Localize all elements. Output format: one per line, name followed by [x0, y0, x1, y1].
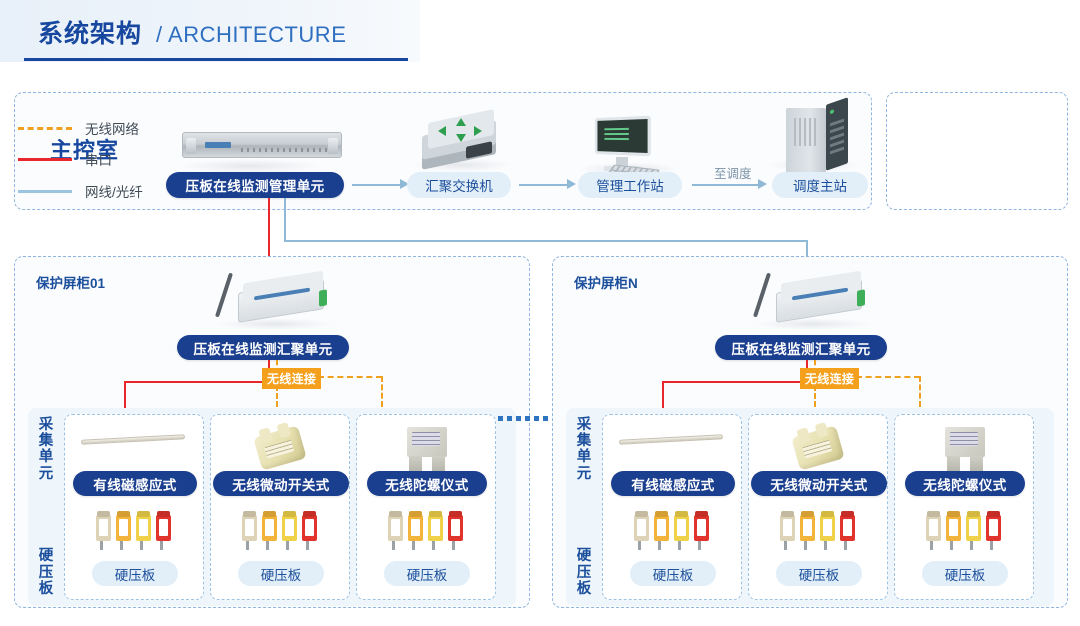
cab-left-wireless-across: [318, 376, 382, 378]
sensor-card-left-1[interactable]: 有线磁感应式 硬压板: [64, 414, 204, 600]
hard-plate-icon-right-3: [926, 513, 1004, 551]
wireless-line-icon: [18, 127, 72, 130]
legend-panel: [886, 92, 1068, 210]
hard-plate-icon-right-2: [780, 513, 858, 551]
node-mgmt-unit[interactable]: 压板在线监测管理单元: [166, 172, 344, 198]
cab-left-serial-across: [124, 381, 270, 383]
link-mgmt-drop-blue: [284, 198, 286, 240]
plate-label-right-3: 硬压板: [922, 561, 1008, 586]
link-switch-to-workstation: [519, 184, 569, 186]
gateway-icon-left: [238, 286, 324, 316]
hard-plate-icon-left-2: [242, 513, 320, 551]
gyroscope-icon: [945, 427, 985, 457]
plate-label-right-1: 硬压板: [630, 561, 716, 586]
legend-label-wireless: 无线网络: [85, 118, 139, 138]
sensor-label-right-3[interactable]: 无线陀螺仪式: [905, 471, 1025, 496]
gateway-shadow-right: [754, 318, 872, 330]
legend-item-wireless: 无线网络: [18, 118, 139, 138]
legend-item-ethernet: 网线/光纤: [18, 181, 143, 201]
node-dispatch[interactable]: 调度主站: [772, 172, 868, 198]
link-mgmt-to-switch: [352, 184, 402, 186]
cab-left-wireless-to-sensor3: [381, 376, 383, 407]
cab-left-wireless-to-sensor2: [276, 385, 278, 407]
header-underline: [24, 58, 408, 61]
page-header: 系统架构 / ARCHITECTURE: [38, 14, 346, 50]
wireless-tag-left: 无线连接: [262, 368, 321, 389]
collect-zone-left: 采集单元 硬压板 有线磁感应式 硬压板 无线微动开关式 硬压板: [28, 408, 516, 606]
gateway-icon-right: [776, 286, 862, 316]
switch-icon: [422, 128, 496, 162]
hard-plate-icon-left-1: [96, 513, 174, 551]
collect-zone-right: 采集单元 硬压板 有线磁感应式 硬压板 无线微动开关式 硬压板: [566, 408, 1054, 606]
zone-label-board-right: 硬压板: [574, 548, 594, 597]
legend-label-serial: 串口: [85, 149, 112, 169]
arrow-switch-to-workstation-icon: [567, 179, 576, 189]
link-mgmt-across-blue: [284, 240, 806, 242]
zone-label-board-left: 硬压板: [36, 548, 56, 597]
link-workstation-to-dispatch: [692, 184, 760, 186]
sensor-label-left-1[interactable]: 有线磁感应式: [73, 471, 197, 496]
arrow-workstation-to-dispatch-icon: [758, 179, 767, 189]
magnetic-strip-icon: [81, 434, 185, 444]
cab-right-wireless-to-sensor3: [919, 376, 921, 407]
page-title: 系统架构: [38, 14, 142, 50]
sensor-label-left-3[interactable]: 无线陀螺仪式: [367, 471, 487, 496]
plate-label-right-2: 硬压板: [776, 561, 862, 586]
cabinet-title-right: 保护屏柜N: [574, 272, 638, 292]
micro-switch-icon: [795, 431, 841, 465]
hard-plate-icon-left-3: [388, 513, 466, 551]
hard-plate-icon-right-1: [634, 513, 712, 551]
gyroscope-icon: [407, 427, 447, 457]
cabinet-title-left: 保护屏柜01: [36, 272, 105, 292]
node-workstation[interactable]: 管理工作站: [578, 172, 682, 198]
plate-label-left-2: 硬压板: [238, 561, 324, 586]
zone-label-collect-right: 采集单元: [574, 417, 594, 482]
sensor-card-left-3[interactable]: 无线陀螺仪式 硬压板: [356, 414, 496, 600]
node-switch[interactable]: 汇聚交换机: [407, 172, 511, 198]
rack-shadow: [178, 159, 322, 173]
cab-right-serial-across: [662, 381, 808, 383]
plate-label-left-3: 硬压板: [384, 561, 470, 586]
server-tower-icon: [786, 108, 826, 174]
rack-leds: [241, 148, 333, 152]
sensor-label-left-2[interactable]: 无线微动开关式: [213, 471, 349, 496]
micro-switch-icon: [257, 431, 303, 465]
gateway-shadow-left: [216, 318, 334, 330]
sensor-card-right-2[interactable]: 无线微动开关式 硬压板: [748, 414, 888, 600]
sensor-card-right-3[interactable]: 无线陀螺仪式 硬压板: [894, 414, 1034, 600]
plate-label-left-1: 硬压板: [92, 561, 178, 586]
wireless-tag-right: 无线连接: [800, 368, 859, 389]
magnetic-strip-icon: [619, 434, 723, 444]
ethernet-line-icon: [18, 190, 72, 193]
sensor-card-left-2[interactable]: 无线微动开关式 硬压板: [210, 414, 350, 600]
cab-right-wireless-to-sensor2: [814, 385, 816, 407]
rack-server-icon: [182, 132, 342, 158]
ellipsis-dots: [498, 416, 548, 421]
sensor-label-right-1[interactable]: 有线磁感应式: [611, 471, 735, 496]
rack-badge: [205, 142, 231, 148]
serial-line-icon: [18, 158, 72, 161]
workstation-icon: [592, 117, 650, 155]
gateway-pill-left[interactable]: 压板在线监测汇聚单元: [177, 335, 349, 360]
cab-right-wireless-across: [856, 376, 920, 378]
zone-label-collect-left: 采集单元: [36, 417, 56, 482]
sensor-label-right-2[interactable]: 无线微动开关式: [751, 471, 887, 496]
legend-label-ethernet: 网线/光纤: [85, 181, 143, 201]
page-subtitle: / ARCHITECTURE: [156, 22, 346, 48]
sensor-card-right-1[interactable]: 有线磁感应式 硬压板: [602, 414, 742, 600]
gateway-pill-right[interactable]: 压板在线监测汇聚单元: [715, 335, 887, 360]
flow-label-to-dispatch: 至调度: [714, 163, 752, 182]
legend-item-serial: 串口: [18, 149, 112, 169]
